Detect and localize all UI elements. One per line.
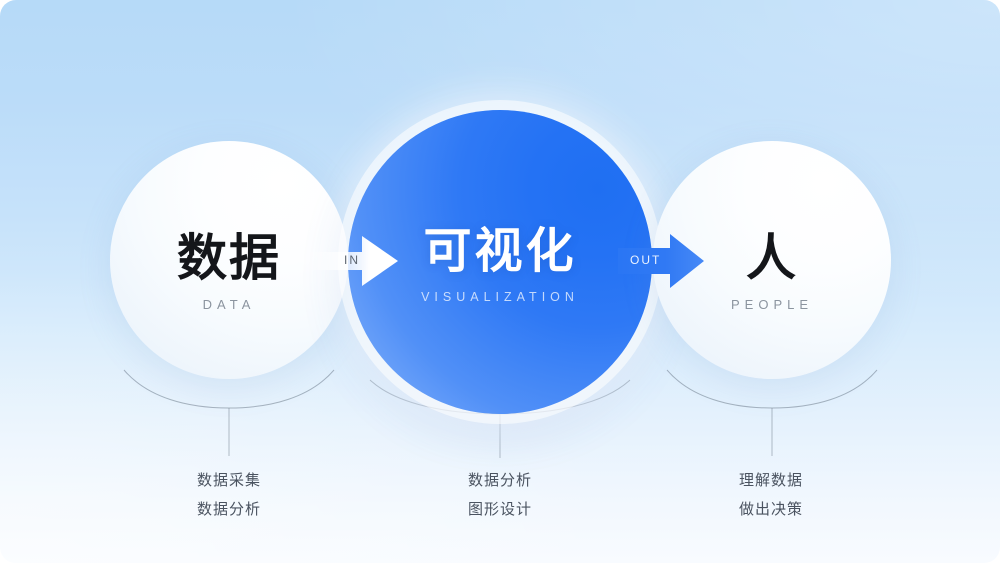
arrow-right-icon bbox=[304, 228, 400, 294]
stage-subtitle-data: DATA bbox=[110, 297, 348, 312]
caption-group-visualization: 数据分析 图形设计 bbox=[400, 466, 600, 524]
caption-group-people: 理解数据 做出决策 bbox=[671, 466, 871, 524]
caption-line: 图形设计 bbox=[400, 495, 600, 524]
bracket-people bbox=[653, 368, 891, 460]
stage-subtitle-people: PEOPLE bbox=[653, 297, 891, 312]
connector-out[interactable]: OUT bbox=[618, 228, 714, 294]
caption-group-data: 数据采集 数据分析 bbox=[129, 466, 329, 524]
caption-line: 理解数据 bbox=[671, 466, 871, 495]
diagram-canvas: 数据 DATA 可视化 VISUALIZATION 人 PEOPLE bbox=[0, 0, 1000, 563]
caption-line: 数据采集 bbox=[129, 466, 329, 495]
caption-line: 数据分析 bbox=[129, 495, 329, 524]
connector-in[interactable]: IN bbox=[304, 228, 400, 294]
caption-line: 做出决策 bbox=[671, 495, 871, 524]
caption-line: 数据分析 bbox=[400, 466, 600, 495]
arrow-right-icon bbox=[618, 228, 714, 294]
bracket-data bbox=[110, 368, 348, 460]
